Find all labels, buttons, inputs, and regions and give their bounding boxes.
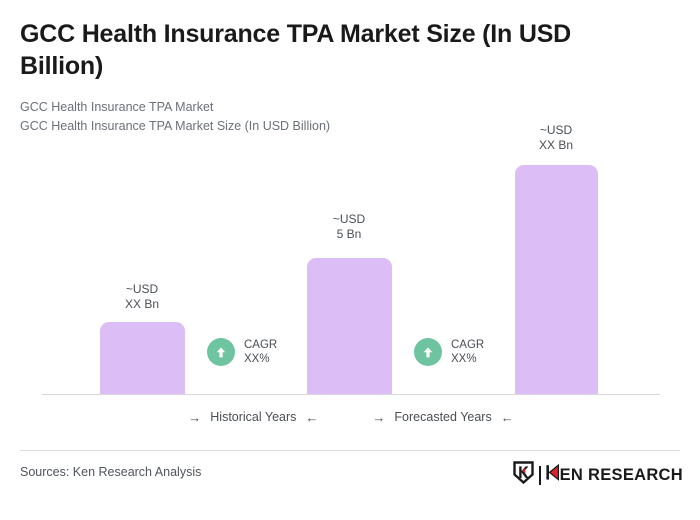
bar-value-label-line1: ~USD [294,212,404,227]
axis-legend: → Historical Years ← → Forecasted Years … [42,410,660,424]
cagr-annotation: CAGR XX% [207,338,277,367]
arrow-left-icon: ← [305,411,318,424]
logo-divider [539,466,541,485]
ken-research-logo: EN RESEARCH [513,461,683,489]
chart-plot-area: ~USD XX Bn CAGR XX% ~USD 5 Bn [0,120,700,400]
axis-legend-label: Forecasted Years [394,410,491,424]
cagr-annotation: CAGR XX% [414,338,484,367]
arrow-left-icon: ← [501,411,514,424]
footer-divider [20,450,680,451]
bar-historical[interactable] [100,322,185,394]
axis-legend-label: Historical Years [210,410,296,424]
cagr-label: CAGR [451,338,484,352]
bar-value-label: ~USD 5 Bn [294,212,404,241]
axis-legend-forecasted: → Forecasted Years ← [372,410,513,424]
cagr-text: CAGR XX% [244,338,277,367]
cagr-value: XX% [451,352,484,366]
arrow-right-icon: → [188,411,201,424]
arrow-up-icon [207,338,235,366]
arrow-up-icon [414,338,442,366]
bar-value-label-line2: XX Bn [501,138,611,153]
logo-k-icon [546,464,559,486]
sources-text: Sources: Ken Research Analysis [20,465,201,479]
chart-baseline-axis [42,394,660,395]
bar-value-label: ~USD XX Bn [501,123,611,152]
logo-wordmark: EN RESEARCH [546,464,683,486]
bar-value-label-line2: 5 Bn [294,227,404,242]
bar-value-label-line1: ~USD [501,123,611,138]
bar-value-label-line1: ~USD [87,282,197,297]
chart-page: GCC Health Insurance TPA Market Size (In… [0,0,700,520]
bar-forecast[interactable] [515,165,598,394]
bar-value-label: ~USD XX Bn [87,282,197,311]
cagr-label: CAGR [244,338,277,352]
bar-mid[interactable] [307,258,392,394]
axis-legend-historical: → Historical Years ← [188,410,318,424]
arrow-right-icon: → [372,411,385,424]
cagr-value: XX% [244,352,277,366]
page-title: GCC Health Insurance TPA Market Size (In… [20,18,620,82]
shield-logo-icon [513,461,534,489]
logo-text: EN RESEARCH [560,467,683,484]
subtitle-line-1: GCC Health Insurance TPA Market [20,98,640,117]
bar-value-label-line2: XX Bn [87,297,197,312]
cagr-text: CAGR XX% [451,338,484,367]
